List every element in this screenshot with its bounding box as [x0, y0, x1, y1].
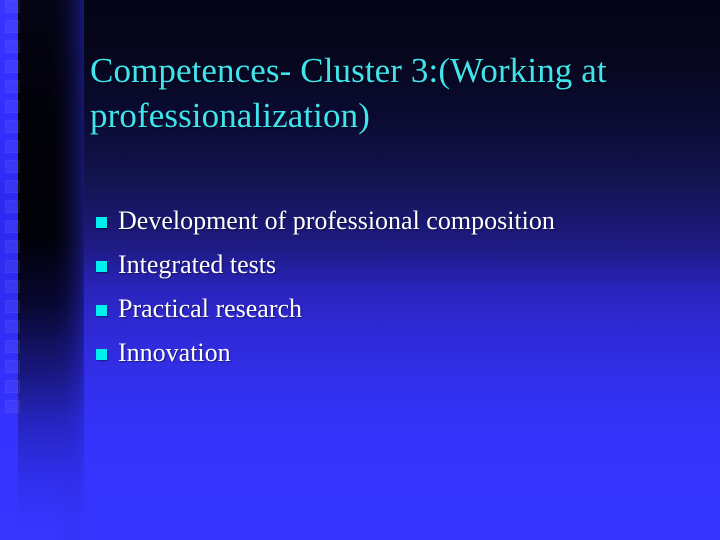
film-strip-square — [5, 320, 20, 333]
film-strip-squares — [5, 0, 20, 540]
film-strip-square — [5, 280, 20, 293]
film-strip-square — [5, 300, 20, 313]
film-strip-square — [5, 100, 20, 113]
list-item: Development of professional composition — [96, 205, 696, 249]
list-item-label: Development of professional composition — [118, 205, 555, 237]
slide-title: Competences- Cluster 3:(Working at profe… — [90, 48, 690, 138]
film-strip-square — [5, 120, 20, 133]
film-strip-square — [5, 180, 20, 193]
film-strip-square — [5, 380, 20, 393]
list-item: Integrated tests — [96, 249, 696, 293]
film-strip-square — [5, 360, 20, 373]
slide-body-bullet-list: Development of professional compositionI… — [96, 205, 696, 381]
film-strip-square — [5, 160, 20, 173]
film-strip-square — [5, 400, 20, 413]
film-strip-square — [5, 20, 20, 33]
list-item: Innovation — [96, 337, 696, 381]
film-strip-square — [5, 140, 20, 153]
presentation-slide: Competences- Cluster 3:(Working at profe… — [0, 0, 720, 540]
film-strip-square — [5, 240, 20, 253]
square-bullet-icon — [96, 305, 107, 316]
left-decorative-band — [0, 0, 84, 540]
film-strip-square — [5, 80, 20, 93]
list-item-label: Innovation — [118, 337, 231, 369]
square-bullet-icon — [96, 261, 107, 272]
film-strip-square — [5, 220, 20, 233]
list-item-label: Integrated tests — [118, 249, 276, 281]
left-band-feather — [18, 0, 84, 540]
film-strip-square — [5, 260, 20, 273]
film-strip-square — [5, 0, 20, 13]
film-strip-square — [5, 200, 20, 213]
film-strip-square — [5, 40, 20, 53]
square-bullet-icon — [96, 217, 107, 228]
list-item-label: Practical research — [118, 293, 302, 325]
slide-title-block: Competences- Cluster 3:(Working at profe… — [90, 48, 690, 138]
list-item: Practical research — [96, 293, 696, 337]
film-strip-square — [5, 60, 20, 73]
square-bullet-icon — [96, 349, 107, 360]
film-strip-square — [5, 340, 20, 353]
